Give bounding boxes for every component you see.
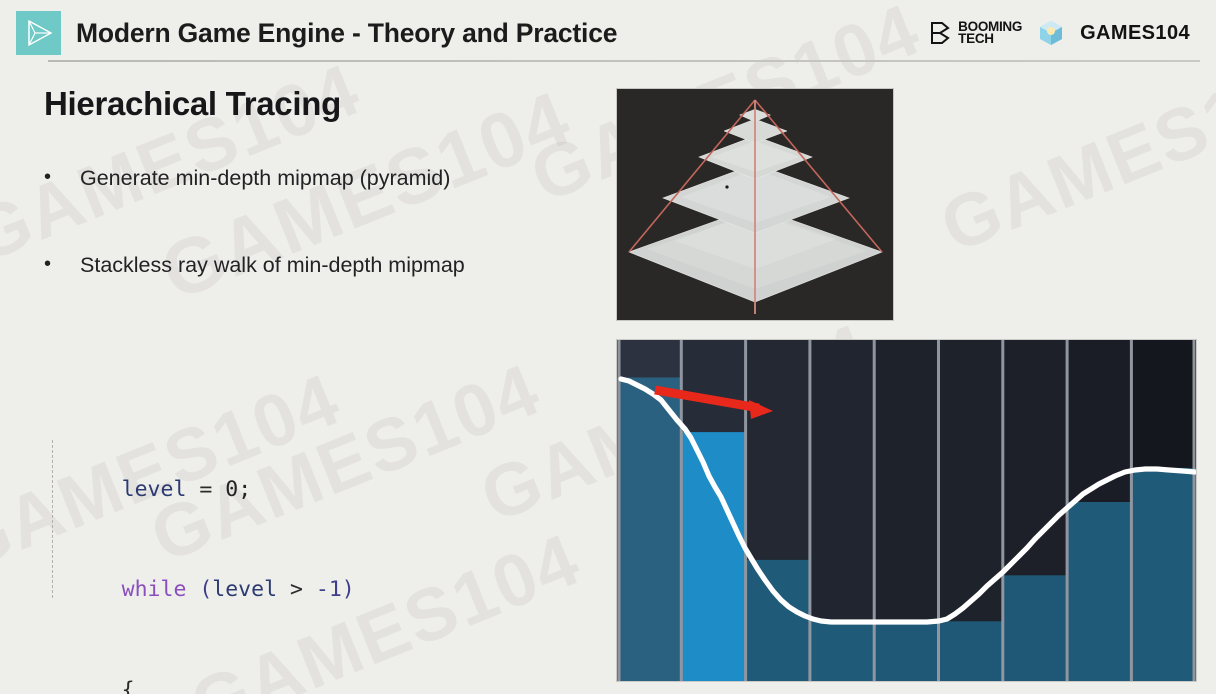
hiz-cells-illustration — [617, 340, 1196, 681]
bullet-marker: • — [44, 165, 80, 189]
list-item: • Generate min-depth mipmap (pyramid) — [44, 165, 604, 192]
code-token-level: level — [122, 477, 187, 502]
stackless-ray-walk-figure — [616, 339, 1197, 682]
page-title: Modern Game Engine - Theory and Practice — [76, 18, 617, 49]
bullet-list: • Generate min-depth mipmap (pyramid) • … — [44, 165, 604, 339]
code-token-open-brace: { — [122, 678, 135, 694]
mipmap-pyramid-illustration — [617, 89, 893, 320]
code-line: { — [44, 640, 523, 674]
games104-logo: GAMES104 — [1080, 22, 1190, 45]
code-line: while (level > -1) — [44, 540, 523, 574]
slide-root: GAMES104 GAMES104 GAMES104 GAMES104 GAME… — [0, 0, 1216, 694]
watermark: GAMES104 — [929, 36, 1216, 269]
list-item: • Stackless ray walk of min-depth mipmap — [44, 252, 604, 279]
min-depth-mipmap-pyramid-figure — [616, 88, 894, 321]
code-token-assign: = — [186, 477, 225, 502]
games104-cube-icon — [1036, 18, 1066, 48]
code-token-minus-one: -1) — [316, 577, 355, 602]
code-token-zero: 0; — [225, 477, 251, 502]
code-token-gt: > — [277, 577, 316, 602]
booming-line-2: TECH — [958, 33, 1022, 45]
bullet-text: Stackless ray walk of min-depth mipmap — [80, 252, 465, 279]
logo-group: BOOMING TECH GAMES104 — [928, 18, 1190, 48]
code-block: level = 0; while (level > -1) { stepCurr… — [44, 372, 523, 694]
booming-b-icon — [928, 20, 954, 46]
slide-header: Modern Game Engine - Theory and Practice… — [0, 0, 1216, 62]
triangle-wireframe-icon — [23, 18, 55, 48]
code-line: level = 0; — [44, 439, 523, 473]
bullet-text: Generate min-depth mipmap (pyramid) — [80, 165, 450, 192]
bullet-marker: • — [44, 252, 80, 276]
code-token-open-paren: ( — [186, 577, 212, 602]
code-token-level: level — [212, 577, 277, 602]
slide-title: Hierachical Tracing — [44, 85, 341, 123]
booming-tech-logo: BOOMING TECH — [928, 20, 1022, 46]
brand-logo — [16, 11, 61, 55]
header-divider — [48, 60, 1200, 62]
code-token-while: while — [122, 577, 187, 602]
